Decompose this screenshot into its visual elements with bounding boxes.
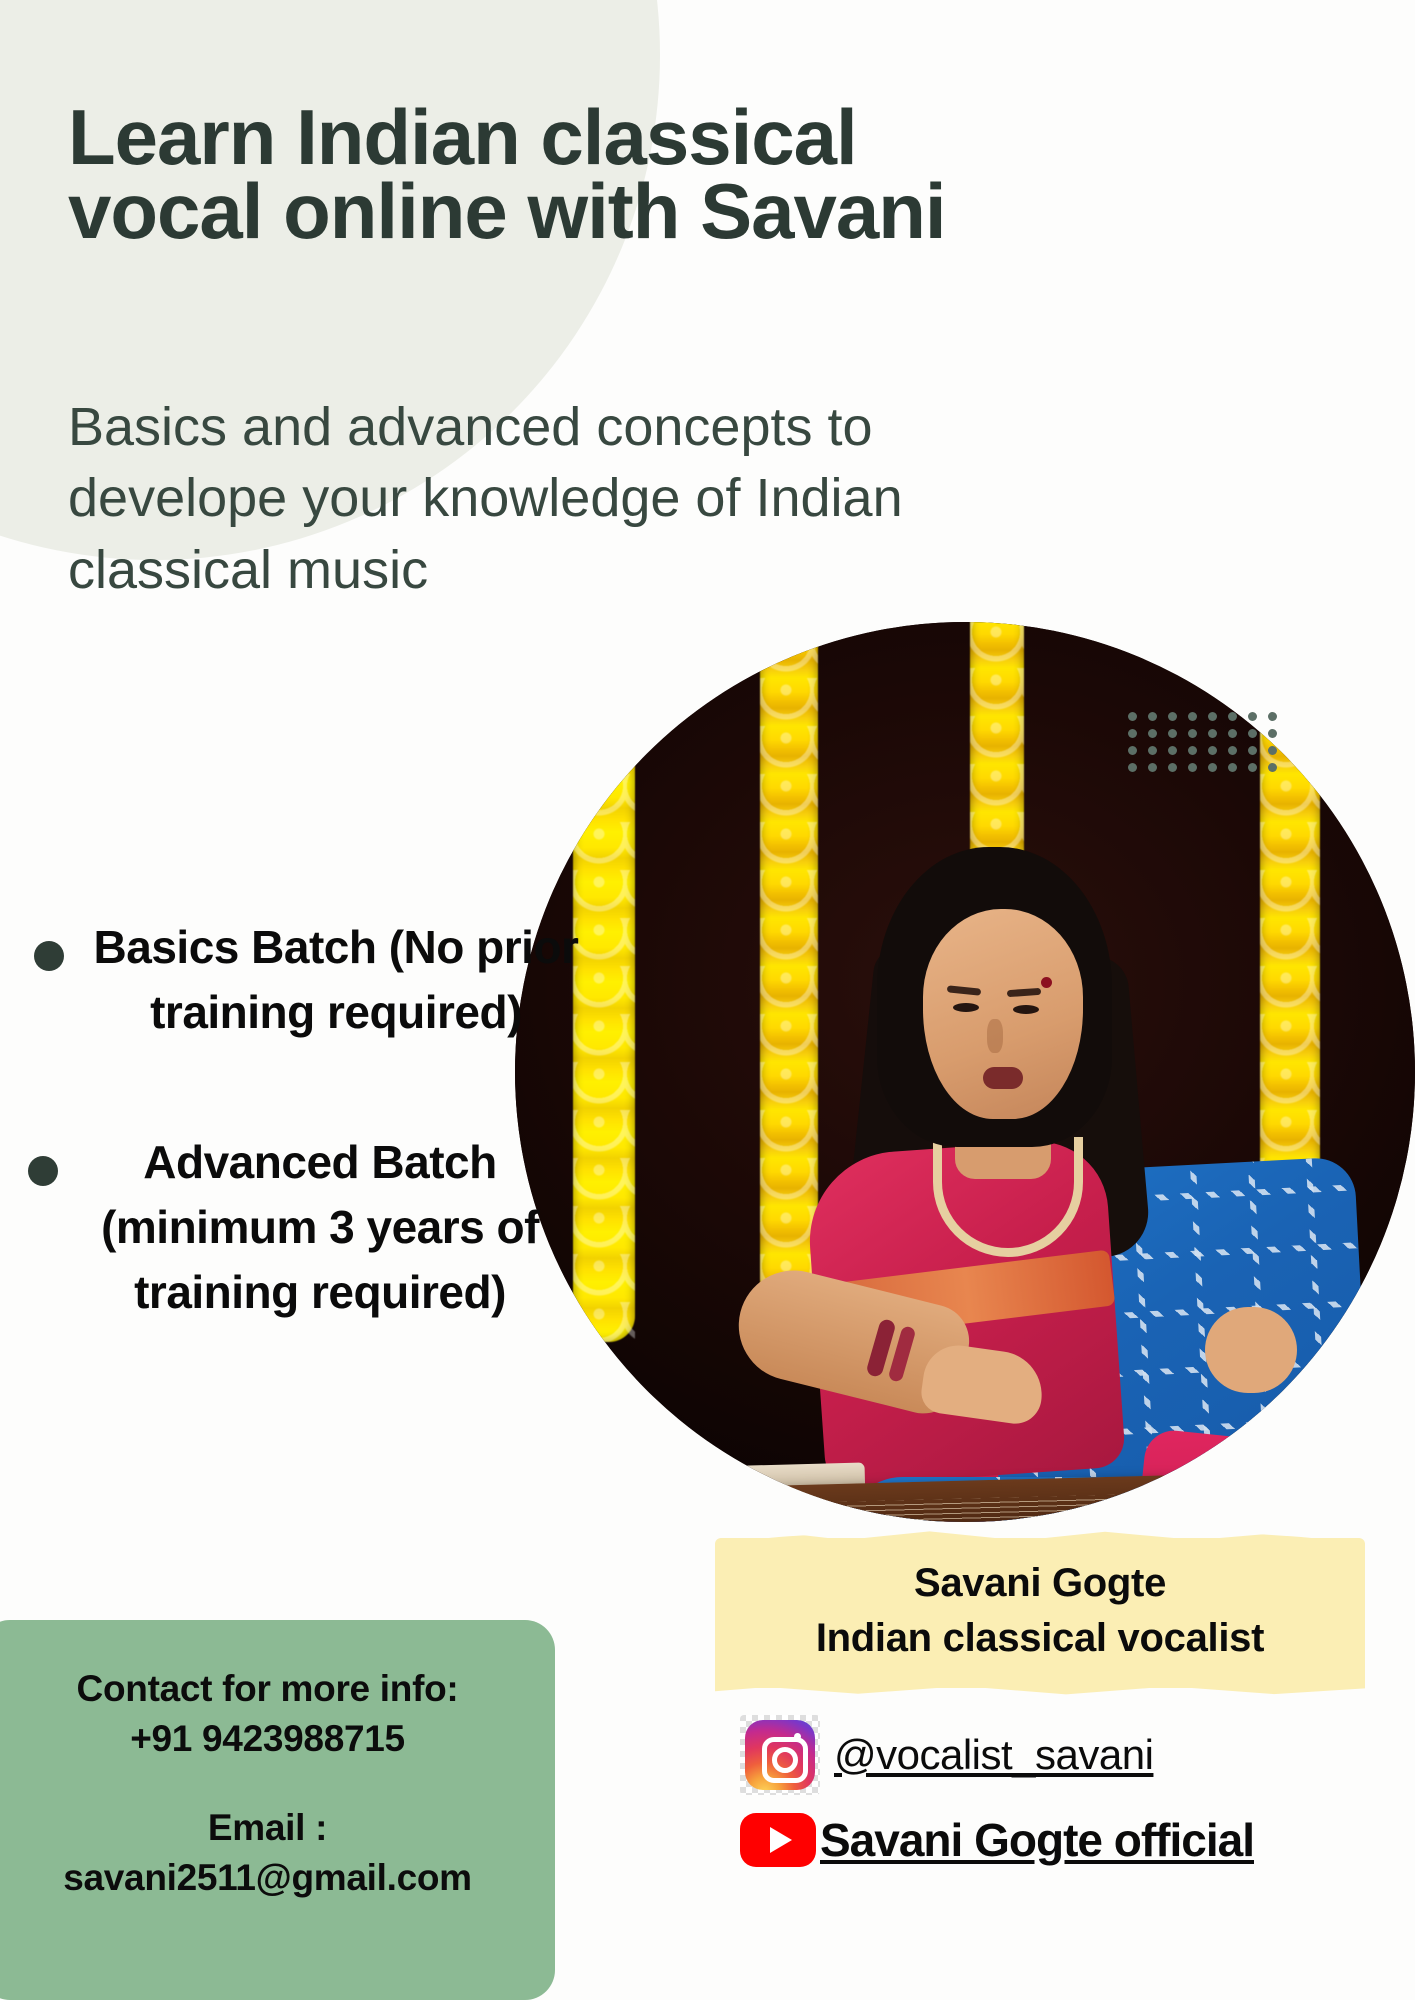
contact-email-label: Email : [10,1803,525,1853]
name-banner: Savani Gogte Indian classical vocalist [715,1538,1365,1688]
grid-dot [1148,712,1157,721]
grid-dot [1248,729,1257,738]
contact-heading: Contact for more info: [10,1664,525,1714]
grid-dot [1248,763,1257,772]
grid-dot [1228,746,1237,755]
grid-dot [1208,746,1217,755]
eye [1013,1005,1039,1014]
grid-dot [1248,712,1257,721]
youtube-channel[interactable]: Savani Gogte official [820,1813,1254,1867]
grid-dot [1208,729,1217,738]
grid-dot [1188,746,1197,755]
list-item-label: Advanced Batch (minimum 3 years of train… [46,1130,594,1326]
grid-dot [1228,712,1237,721]
grid-dot [1268,746,1277,755]
grid-dot [1128,712,1137,721]
dot-grid-decoration [1128,712,1288,780]
grid-dot [1188,763,1197,772]
performer-role: Indian classical vocalist [715,1611,1365,1666]
nose [987,1019,1003,1053]
page-subtitle: Basics and advanced concepts to develope… [68,392,1008,606]
spacer [10,1765,525,1803]
grid-dot [1248,746,1257,755]
list-item-label: Basics Batch (No prior training required… [78,915,594,1046]
social-links: @vocalist_savani Savani Gogte official [740,1715,1254,1885]
hand [1205,1307,1297,1393]
performer-name: Savani Gogte [715,1538,1365,1611]
grid-dot [1168,763,1177,772]
grid-dot [1168,729,1177,738]
contact-email[interactable]: savani2511@gmail.com [10,1853,525,1903]
page-title: Learn Indian classical vocal online with… [68,100,1008,248]
eye [953,1003,979,1012]
batch-list: Basics Batch (No prior training required… [34,915,594,1410]
contact-card: Contact for more info: +91 9423988715 Em… [0,1620,555,2000]
bullet-dot-icon [34,941,64,971]
performer-figure [665,837,1305,1522]
instagram-glyph [745,1720,815,1790]
grid-dot [1128,729,1137,738]
grid-dot [1228,729,1237,738]
grid-dot [1208,763,1217,772]
grid-dot [1168,746,1177,755]
contact-phone[interactable]: +91 9423988715 [10,1714,525,1764]
instagram-handle[interactable]: @vocalist_savani [834,1731,1153,1779]
instagram-dot [794,1733,801,1740]
grid-dot [1148,746,1157,755]
grid-dot [1128,746,1137,755]
instagram-icon [740,1715,820,1795]
mouth [983,1067,1023,1089]
grid-dot [1188,712,1197,721]
grid-dot [1228,763,1237,772]
grid-dot [1148,729,1157,738]
grid-dot [1128,763,1137,772]
list-item: Basics Batch (No prior training required… [34,915,594,1046]
grid-dot [1268,712,1277,721]
bindi [1041,977,1052,988]
grid-dot [1148,763,1157,772]
social-row-instagram[interactable]: @vocalist_savani [740,1715,1254,1795]
youtube-icon [740,1813,816,1867]
grid-dot [1268,729,1277,738]
grid-dot [1188,729,1197,738]
grid-dot [1268,763,1277,772]
list-item: Advanced Batch (minimum 3 years of train… [28,1130,594,1326]
grid-dot [1208,712,1217,721]
social-row-youtube[interactable]: Savani Gogte official [740,1813,1254,1867]
grid-dot [1168,712,1177,721]
